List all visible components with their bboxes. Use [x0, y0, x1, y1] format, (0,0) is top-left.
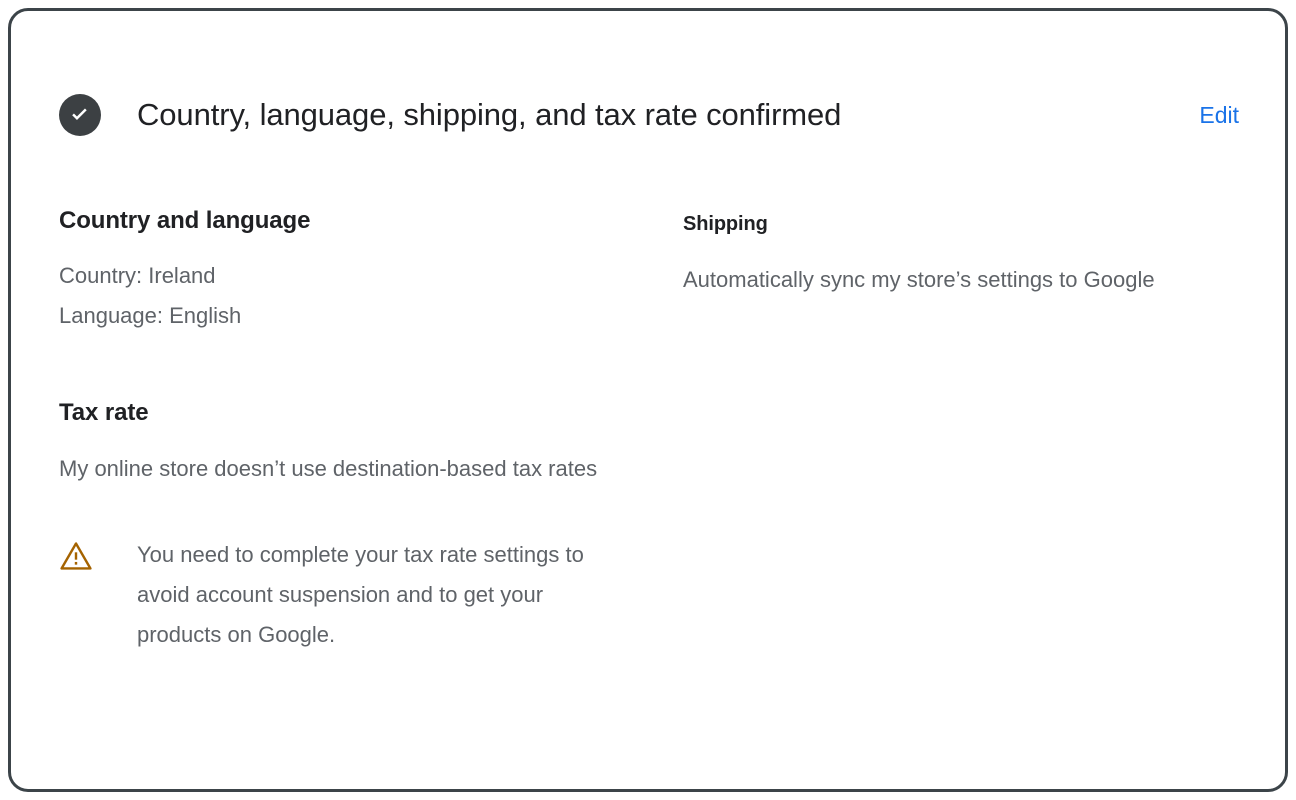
left-column: Country and language Country: Ireland La… [59, 206, 683, 655]
warning-message: You need to complete your tax rate setti… [137, 535, 627, 655]
shipping-description: Automatically sync my store’s settings t… [683, 259, 1218, 300]
tax-rate-section: Tax rate My online store doesn’t use des… [59, 398, 683, 655]
summary-card: Country, language, shipping, and tax rat… [8, 8, 1288, 792]
tax-rate-warning: You need to complete your tax rate setti… [59, 535, 683, 655]
edit-button[interactable]: Edit [1197, 97, 1241, 133]
card-content: Country, language, shipping, and tax rat… [11, 11, 1285, 789]
tax-rate-description: My online store doesn’t use destination-… [59, 448, 604, 489]
page-title: Country, language, shipping, and tax rat… [137, 96, 1197, 134]
details-columns: Country and language Country: Ireland La… [59, 206, 1245, 655]
right-column: Shipping Automatically sync my store’s s… [683, 206, 1245, 300]
country-value: Country: Ireland [59, 256, 683, 296]
country-language-heading: Country and language [59, 206, 683, 236]
shipping-heading: Shipping [683, 211, 1245, 237]
warning-triangle-icon [59, 539, 93, 573]
card-header: Country, language, shipping, and tax rat… [51, 83, 1245, 147]
shipping-section: Shipping Automatically sync my store’s s… [683, 211, 1245, 300]
check-circle-icon [59, 94, 101, 136]
language-value: Language: English [59, 296, 683, 336]
tax-rate-heading: Tax rate [59, 398, 683, 428]
country-language-section: Country and language Country: Ireland La… [59, 206, 683, 336]
